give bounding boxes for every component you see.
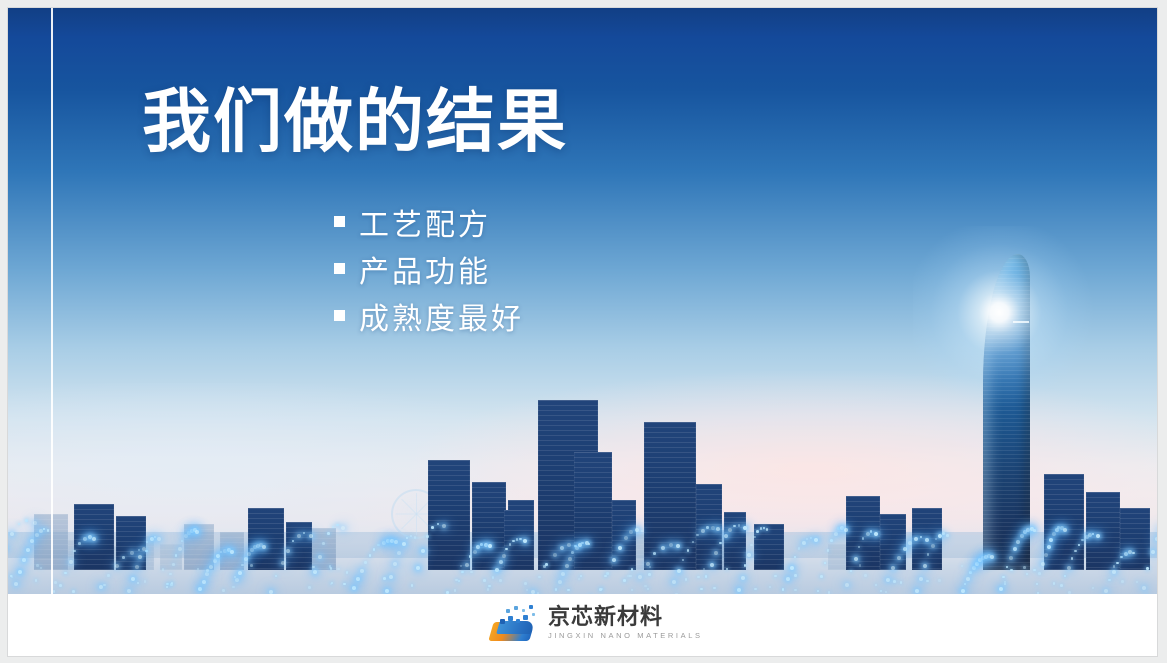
list-item: 工艺配方: [334, 198, 524, 245]
ferris-spoke: [416, 493, 417, 514]
building-mid: [184, 524, 214, 570]
building: [286, 522, 312, 570]
building: [1044, 474, 1084, 570]
logo-name-cn: 京芯新材料: [548, 606, 703, 628]
bullet-list: 工艺配方 产品功能 成熟度最好: [334, 198, 524, 339]
slide-background-photo: 我们做的结果 工艺配方 产品功能 成熟度最好: [8, 8, 1157, 594]
logo-pixel: [514, 606, 518, 610]
left-vertical-rule: [51, 8, 53, 594]
ferris-spoke: [401, 514, 417, 530]
building: [912, 508, 942, 570]
list-item: 产品功能: [334, 245, 524, 292]
jingxin-pixel-logo-icon: [488, 603, 540, 643]
building: [248, 508, 284, 570]
building: [696, 484, 722, 570]
logo-wordmark: 京芯新材料 JINGXIN NANO MATERIALS: [548, 606, 703, 640]
logo-pixel: [532, 613, 535, 616]
slide-footer: 京芯新材料 JINGXIN NANO MATERIALS: [8, 594, 1157, 656]
ferris-spoke: [396, 514, 417, 515]
building: [846, 496, 880, 570]
logo-pixel: [522, 609, 525, 612]
bullet-label: 产品功能: [359, 247, 491, 291]
logo-pixel: [508, 616, 513, 621]
building: [428, 460, 470, 570]
building: [612, 500, 636, 570]
building-landmark: [644, 422, 696, 570]
building-far: [160, 544, 182, 570]
building: [574, 452, 612, 570]
bullet-label: 工艺配方: [359, 200, 491, 244]
logo-pixel: [500, 619, 505, 624]
building: [1086, 492, 1120, 570]
square-bullet-icon: [334, 310, 345, 321]
building: [472, 482, 506, 570]
ferris-spoke: [401, 499, 417, 515]
company-logo: 京芯新材料 JINGXIN NANO MATERIALS: [488, 603, 703, 643]
building: [74, 504, 114, 570]
tower-signage-band: [1013, 321, 1029, 323]
building: [724, 512, 746, 570]
logo-pixel: [523, 615, 528, 620]
building-mid: [220, 532, 244, 570]
logo-pixel: [516, 619, 520, 623]
building-mid: [308, 528, 336, 570]
building: [116, 516, 146, 570]
logo-pixel: [529, 605, 533, 609]
logo-pixel: [506, 609, 510, 613]
building: [754, 524, 784, 570]
building: [504, 510, 534, 570]
square-bullet-icon: [334, 263, 345, 274]
landmark-skyscraper: [983, 254, 1030, 570]
tower-floor-lines: [983, 254, 1030, 570]
list-item: 成熟度最好: [334, 292, 524, 339]
building: [880, 514, 906, 570]
building: [1120, 508, 1150, 570]
ferris-spoke: [416, 514, 417, 535]
logo-name-en: JINGXIN NANO MATERIALS: [548, 632, 703, 640]
square-bullet-icon: [334, 216, 345, 227]
page-title: 我们做的结果: [142, 86, 568, 158]
bullet-label: 成熟度最好: [359, 294, 524, 338]
slide-frame: 我们做的结果 工艺配方 产品功能 成熟度最好: [8, 8, 1157, 656]
